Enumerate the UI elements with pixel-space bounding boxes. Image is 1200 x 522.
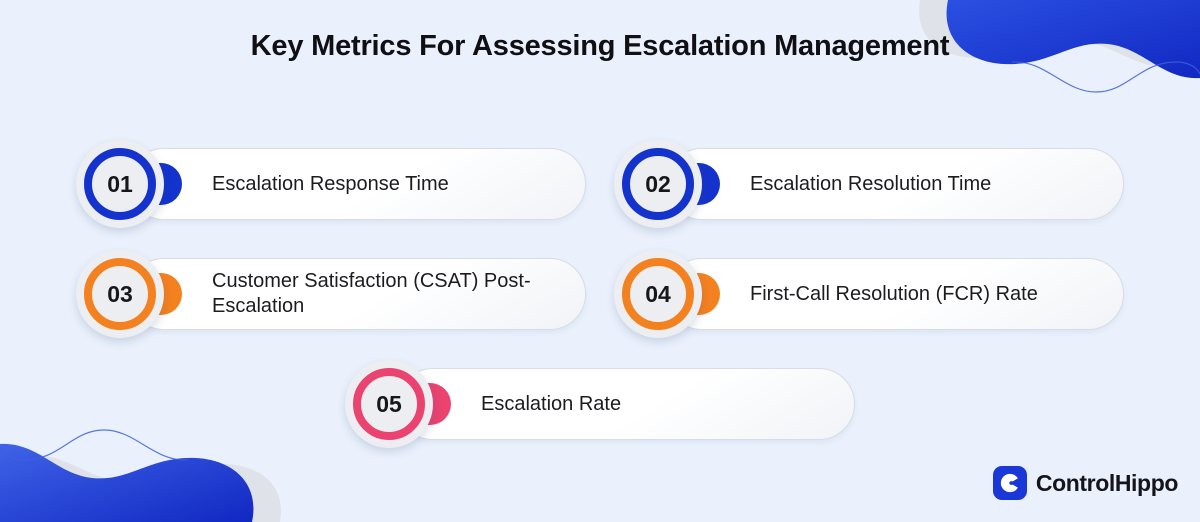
page-title: Key Metrics For Assessing Escalation Man… <box>0 30 1200 63</box>
metric-item-03[interactable]: 03 Customer Satisfaction (CSAT) Post-Esc… <box>76 250 586 338</box>
metrics-list: 01 Escalation Response Time 02 Escalatio… <box>0 140 1200 470</box>
metric-label: First-Call Resolution (FCR) Rate <box>750 250 1110 338</box>
metric-number: 03 <box>107 281 133 308</box>
metric-number-badge: 04 <box>614 250 702 338</box>
brand-name: ControlHippo <box>1036 470 1178 497</box>
metric-item-02[interactable]: 02 Escalation Resolution Time <box>614 140 1124 228</box>
metric-item-01[interactable]: 01 Escalation Response Time <box>76 140 586 228</box>
badge-ring: 03 <box>84 258 156 330</box>
metric-label: Escalation Response Time <box>212 140 572 228</box>
infographic-canvas: Key Metrics For Assessing Escalation Man… <box>0 0 1200 522</box>
badge-ring: 04 <box>622 258 694 330</box>
metric-number: 01 <box>107 171 133 198</box>
metric-label: Escalation Rate <box>481 360 841 448</box>
metric-number: 02 <box>645 171 671 198</box>
metric-label: Customer Satisfaction (CSAT) Post-Escala… <box>212 250 572 338</box>
controlhippo-mark-icon <box>993 466 1027 500</box>
brand-logo: ControlHippo <box>993 466 1178 500</box>
metric-item-05[interactable]: 05 Escalation Rate <box>345 360 855 448</box>
badge-ring: 02 <box>622 148 694 220</box>
metric-number-badge: 03 <box>76 250 164 338</box>
metrics-row-2: 03 Customer Satisfaction (CSAT) Post-Esc… <box>0 250 1200 338</box>
metrics-row-1: 01 Escalation Response Time 02 Escalatio… <box>0 140 1200 228</box>
metric-label: Escalation Resolution Time <box>750 140 1110 228</box>
metric-number-badge: 05 <box>345 360 433 448</box>
metrics-row-3: 05 Escalation Rate <box>0 360 1200 448</box>
metric-item-04[interactable]: 04 First-Call Resolution (FCR) Rate <box>614 250 1124 338</box>
metric-number: 04 <box>645 281 671 308</box>
metric-number-badge: 01 <box>76 140 164 228</box>
badge-ring: 01 <box>84 148 156 220</box>
metric-number: 05 <box>376 391 402 418</box>
badge-ring: 05 <box>353 368 425 440</box>
metric-number-badge: 02 <box>614 140 702 228</box>
